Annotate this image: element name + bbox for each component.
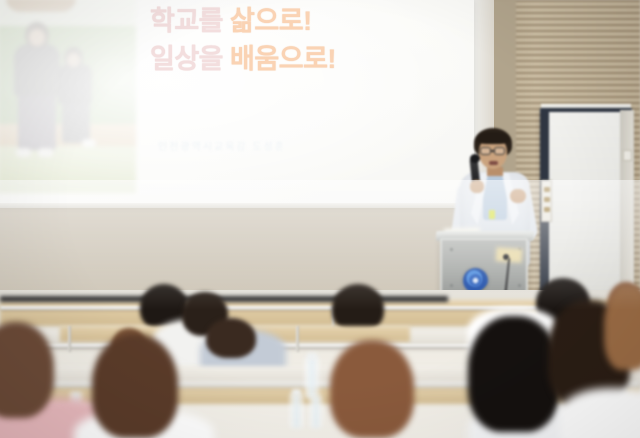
railing-post-middle-1: [68, 326, 71, 352]
speaker-gesturing-hand: [510, 189, 526, 203]
cabinet-control-panel: [541, 180, 552, 222]
screen-bottom-edge: [0, 203, 474, 208]
podium-screw-1: [450, 248, 453, 251]
eyeglasses-lens-right: [494, 147, 505, 155]
slide-title-l1-part2: 삶으로!: [230, 6, 312, 36]
speaker-name-badge: [489, 210, 495, 219]
attendee-head-back-center: [332, 284, 384, 332]
eyeglasses-bridge: [490, 150, 495, 152]
railing-post-middle-2: [296, 326, 299, 352]
slide-title-block: 학교를 삶으로! 일상을 배움으로!: [150, 2, 450, 79]
water-bottle-front-left: [290, 394, 303, 428]
water-bottle-cap-front-left: [292, 389, 301, 396]
water-bottle-center: [305, 358, 319, 398]
wall-outlet: [623, 150, 632, 161]
microphone-head-icon: [470, 154, 480, 163]
slide-subtitle: 인천광역시교육감 도성훈: [158, 138, 286, 153]
water-bottle-cap-center: [307, 353, 317, 360]
podium-screw-3: [450, 284, 453, 287]
attendee-head-right-front: [468, 316, 560, 432]
attendee-shoulders-right-mid: [560, 388, 640, 438]
water-bottle-front-right: [310, 396, 322, 428]
gooseneck-microphone-head-icon: [503, 254, 509, 260]
projection-screen: 학교를 삶으로! 일상을 배움으로! 인천광역시교육감 도성훈: [0, 0, 474, 206]
slide-title-l2-part2: 배움으로!: [230, 44, 336, 74]
podium-emblem-center: [469, 274, 482, 287]
slide-title-l2-part1: 일상을: [150, 44, 223, 74]
slide-title-l1-part1: 학교를: [150, 6, 223, 36]
attendee-head-left-front: [92, 334, 178, 438]
cabinet-button-1: [544, 187, 550, 192]
slide-title-line-2: 일상을 배움으로!: [150, 40, 450, 78]
attendee-head-center-front: [330, 340, 414, 438]
lecture-hall-photograph: 학교를 삶으로! 일상을 배움으로! 인천광역시교육감 도성훈: [0, 0, 640, 438]
cabinet-door: [549, 112, 623, 292]
slide-title-line-1: 학교를 삶으로!: [150, 2, 450, 40]
cabinet-right-column: [620, 110, 634, 292]
speaker-mouth: [489, 161, 498, 165]
attendee-head-far-right: [604, 286, 640, 370]
speaker-shirt: [483, 174, 507, 220]
attendee-head-mid-left2: [206, 318, 256, 358]
podium-screw-4: [518, 284, 521, 287]
speaker-hand-holding-mic: [470, 180, 484, 193]
speaker-hair-front: [476, 132, 510, 144]
cabinet-button-2: [544, 197, 550, 202]
cabinet-button-3: [544, 207, 550, 212]
